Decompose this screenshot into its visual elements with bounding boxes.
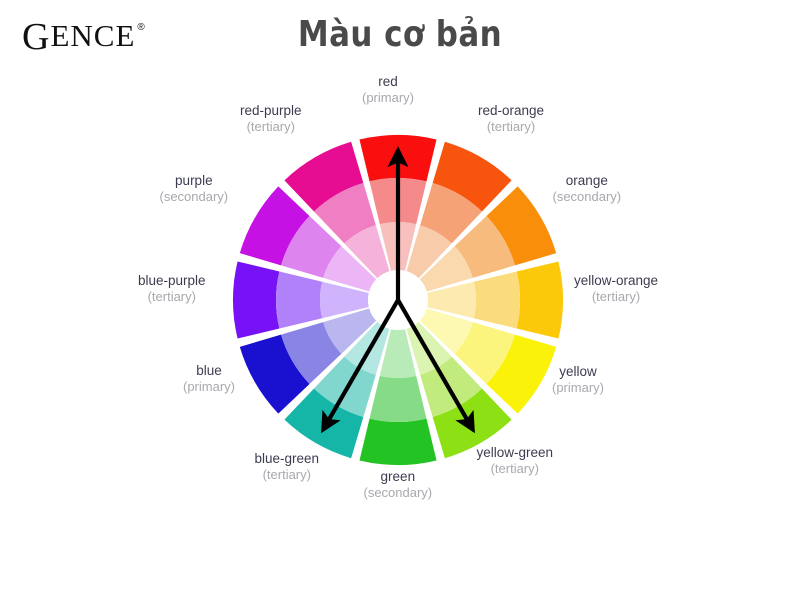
wheel-label-name-green: green (364, 468, 433, 485)
wheel-label-blue: blue(primary) (183, 362, 235, 396)
wheel-label-yellow-orange: yellow-orange(tertiary) (574, 272, 658, 306)
wheel-label-purple: purple(secondary) (160, 172, 229, 206)
wheel-label-role-blue: (primary) (183, 379, 235, 396)
wheel-label-name-blue-purple: blue-purple (138, 272, 206, 289)
wheel-ring-1-blue-purple[interactable] (276, 272, 322, 329)
wheel-label-red-orange: red-orange(tertiary) (478, 102, 544, 136)
wheel-label-role-red: (primary) (362, 90, 414, 107)
wheel-label-red-purple: red-purple(tertiary) (240, 102, 302, 136)
wheel-ring-0-green[interactable] (359, 419, 436, 465)
wheel-label-green: green(secondary) (364, 468, 433, 502)
wheel-label-name-blue: blue (183, 362, 235, 379)
wheel-label-yellow-green: yellow-green(tertiary) (477, 444, 554, 478)
wheel-label-role-red-orange: (tertiary) (478, 119, 544, 136)
wheel-label-name-red: red (362, 73, 414, 90)
wheel-label-role-blue-purple: (tertiary) (138, 289, 206, 306)
wheel-label-blue-purple: blue-purple(tertiary) (138, 272, 206, 306)
wheel-label-role-red-purple: (tertiary) (240, 119, 302, 136)
wheel-label-name-yellow-green: yellow-green (477, 444, 554, 461)
wheel-label-role-blue-green: (tertiary) (255, 467, 320, 484)
wheel-label-role-green: (secondary) (364, 485, 433, 502)
wheel-label-yellow: yellow(primary) (552, 363, 604, 397)
wheel-label-name-yellow-orange: yellow-orange (574, 272, 658, 289)
wheel-label-role-purple: (secondary) (160, 189, 229, 206)
wheel-ring-1-yellow-orange[interactable] (474, 272, 520, 329)
wheel-label-role-yellow-green: (tertiary) (477, 461, 554, 478)
wheel-label-name-yellow: yellow (552, 363, 604, 380)
wheel-label-role-orange: (secondary) (553, 189, 622, 206)
wheel-ring-1-green[interactable] (370, 376, 427, 422)
wheel-label-red: red(primary) (362, 73, 414, 107)
wheel-label-name-orange: orange (553, 172, 622, 189)
wheel-label-role-yellow: (primary) (552, 380, 604, 397)
wheel-label-name-red-orange: red-orange (478, 102, 544, 119)
wheel-label-blue-green: blue-green(tertiary) (255, 450, 320, 484)
wheel-label-name-blue-green: blue-green (255, 450, 320, 467)
wheel-label-name-red-purple: red-purple (240, 102, 302, 119)
wheel-label-name-purple: purple (160, 172, 229, 189)
wheel-ring-0-blue-purple[interactable] (233, 261, 279, 338)
wheel-label-role-yellow-orange: (tertiary) (574, 289, 658, 306)
wheel-ring-0-yellow-orange[interactable] (517, 261, 563, 338)
wheel-label-orange: orange(secondary) (553, 172, 622, 206)
